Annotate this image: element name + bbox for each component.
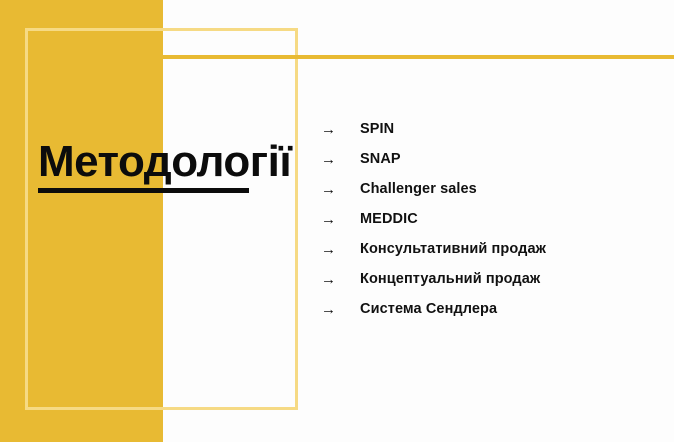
arrow-right-icon: → [321, 182, 360, 197]
list-item: → SPIN [321, 114, 546, 144]
page-title-text: Методології [38, 140, 291, 184]
arrow-right-icon: → [321, 212, 360, 227]
list-item-label: SNAP [360, 151, 401, 167]
methodology-list: → SPIN → SNAP → Challenger sales → MEDDI… [321, 114, 546, 324]
arrow-right-icon: → [321, 242, 360, 257]
page-title-underline [38, 188, 249, 193]
list-item-label: Консультативний продаж [360, 241, 546, 257]
list-item-label: Система Сендлера [360, 301, 497, 317]
list-item: → Challenger sales [321, 174, 546, 204]
list-item: → Система Сендлера [321, 294, 546, 324]
slide-canvas: Методології → SPIN → SNAP → Challenger s… [0, 0, 674, 442]
list-item-label: MEDDIC [360, 211, 418, 227]
list-item-label: Challenger sales [360, 181, 477, 197]
page-title: Методології [38, 140, 291, 193]
list-item: → SNAP [321, 144, 546, 174]
arrow-right-icon: → [321, 122, 360, 137]
list-item-label: Концептуальний продаж [360, 271, 540, 287]
list-item-label: SPIN [360, 121, 394, 137]
arrow-right-icon: → [321, 302, 360, 317]
horizontal-accent-rule [163, 55, 674, 59]
list-item: → Концептуальний продаж [321, 264, 546, 294]
list-item: → Консультативний продаж [321, 234, 546, 264]
list-item: → MEDDIC [321, 204, 546, 234]
decorative-outline-frame [25, 28, 298, 410]
arrow-right-icon: → [321, 272, 360, 287]
arrow-right-icon: → [321, 152, 360, 167]
